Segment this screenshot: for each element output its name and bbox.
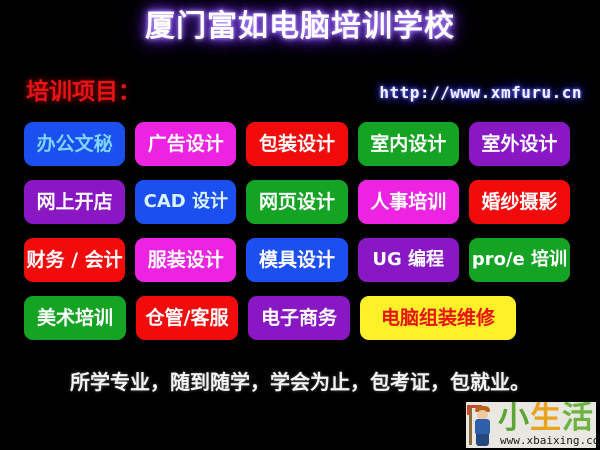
farmer-figure-icon: [469, 403, 497, 447]
course-button[interactable]: 人事培训: [358, 180, 459, 224]
course-row: 办公文秘广告设计包装设计室内设计室外设计: [24, 122, 580, 166]
watermark-char-2: 生: [530, 402, 562, 436]
course-button[interactable]: 办公文秘: [24, 122, 125, 166]
course-button[interactable]: 电子商务: [248, 296, 350, 340]
watermark-wordmark: 小生活: [498, 402, 594, 435]
course-row: 美术培训仓管/客服电子商务电脑组装维修: [24, 296, 580, 340]
course-grid: 办公文秘广告设计包装设计室内设计室外设计网上开店CAD 设计网页设计人事培训婚纱…: [24, 122, 580, 354]
course-button[interactable]: 美术培训: [24, 296, 126, 340]
course-button[interactable]: 服装设计: [135, 238, 236, 282]
course-button[interactable]: 模具设计: [246, 238, 347, 282]
course-button[interactable]: 电脑组装维修: [360, 296, 516, 340]
course-button[interactable]: 室外设计: [469, 122, 570, 166]
course-button[interactable]: 财务 / 会计: [24, 238, 125, 282]
course-button[interactable]: 网页设计: [246, 180, 347, 224]
poster-canvas: 厦门富如电脑培训学校 培训项目： http://www.xmfuru.cn 办公…: [0, 0, 600, 450]
watermark-char-3: 活: [562, 402, 594, 436]
watermark-logo: 小生活 www.xbaixing.com: [466, 402, 596, 448]
watermark-char-1: 小: [498, 402, 530, 436]
course-row: 财务 / 会计服装设计模具设计UG 编程pro/e 培训: [24, 238, 580, 282]
course-button[interactable]: 仓管/客服: [136, 296, 238, 340]
overalls-icon: [475, 419, 490, 435]
course-button[interactable]: 广告设计: [135, 122, 236, 166]
site-url-link[interactable]: http://www.xmfuru.cn: [379, 83, 582, 102]
course-button[interactable]: UG 编程: [358, 238, 459, 282]
course-button[interactable]: pro/e 培训: [469, 238, 570, 282]
page-title: 厦门富如电脑培训学校: [0, 12, 600, 42]
pitchfork-icon: [469, 405, 472, 445]
course-button[interactable]: 室内设计: [358, 122, 459, 166]
legs-icon: [476, 434, 489, 446]
section-label-training-programs: 培训项目：: [26, 72, 141, 106]
footer-slogan: 所学专业，随到随学，学会为止，包考证，包就业。: [0, 366, 600, 395]
watermark-url: www.xbaixing.com: [500, 434, 596, 447]
course-button[interactable]: 包装设计: [246, 122, 347, 166]
course-button[interactable]: 网上开店: [24, 180, 125, 224]
course-button[interactable]: 婚纱摄影: [469, 180, 570, 224]
course-row: 网上开店CAD 设计网页设计人事培训婚纱摄影: [24, 180, 580, 224]
course-button[interactable]: CAD 设计: [135, 180, 236, 224]
